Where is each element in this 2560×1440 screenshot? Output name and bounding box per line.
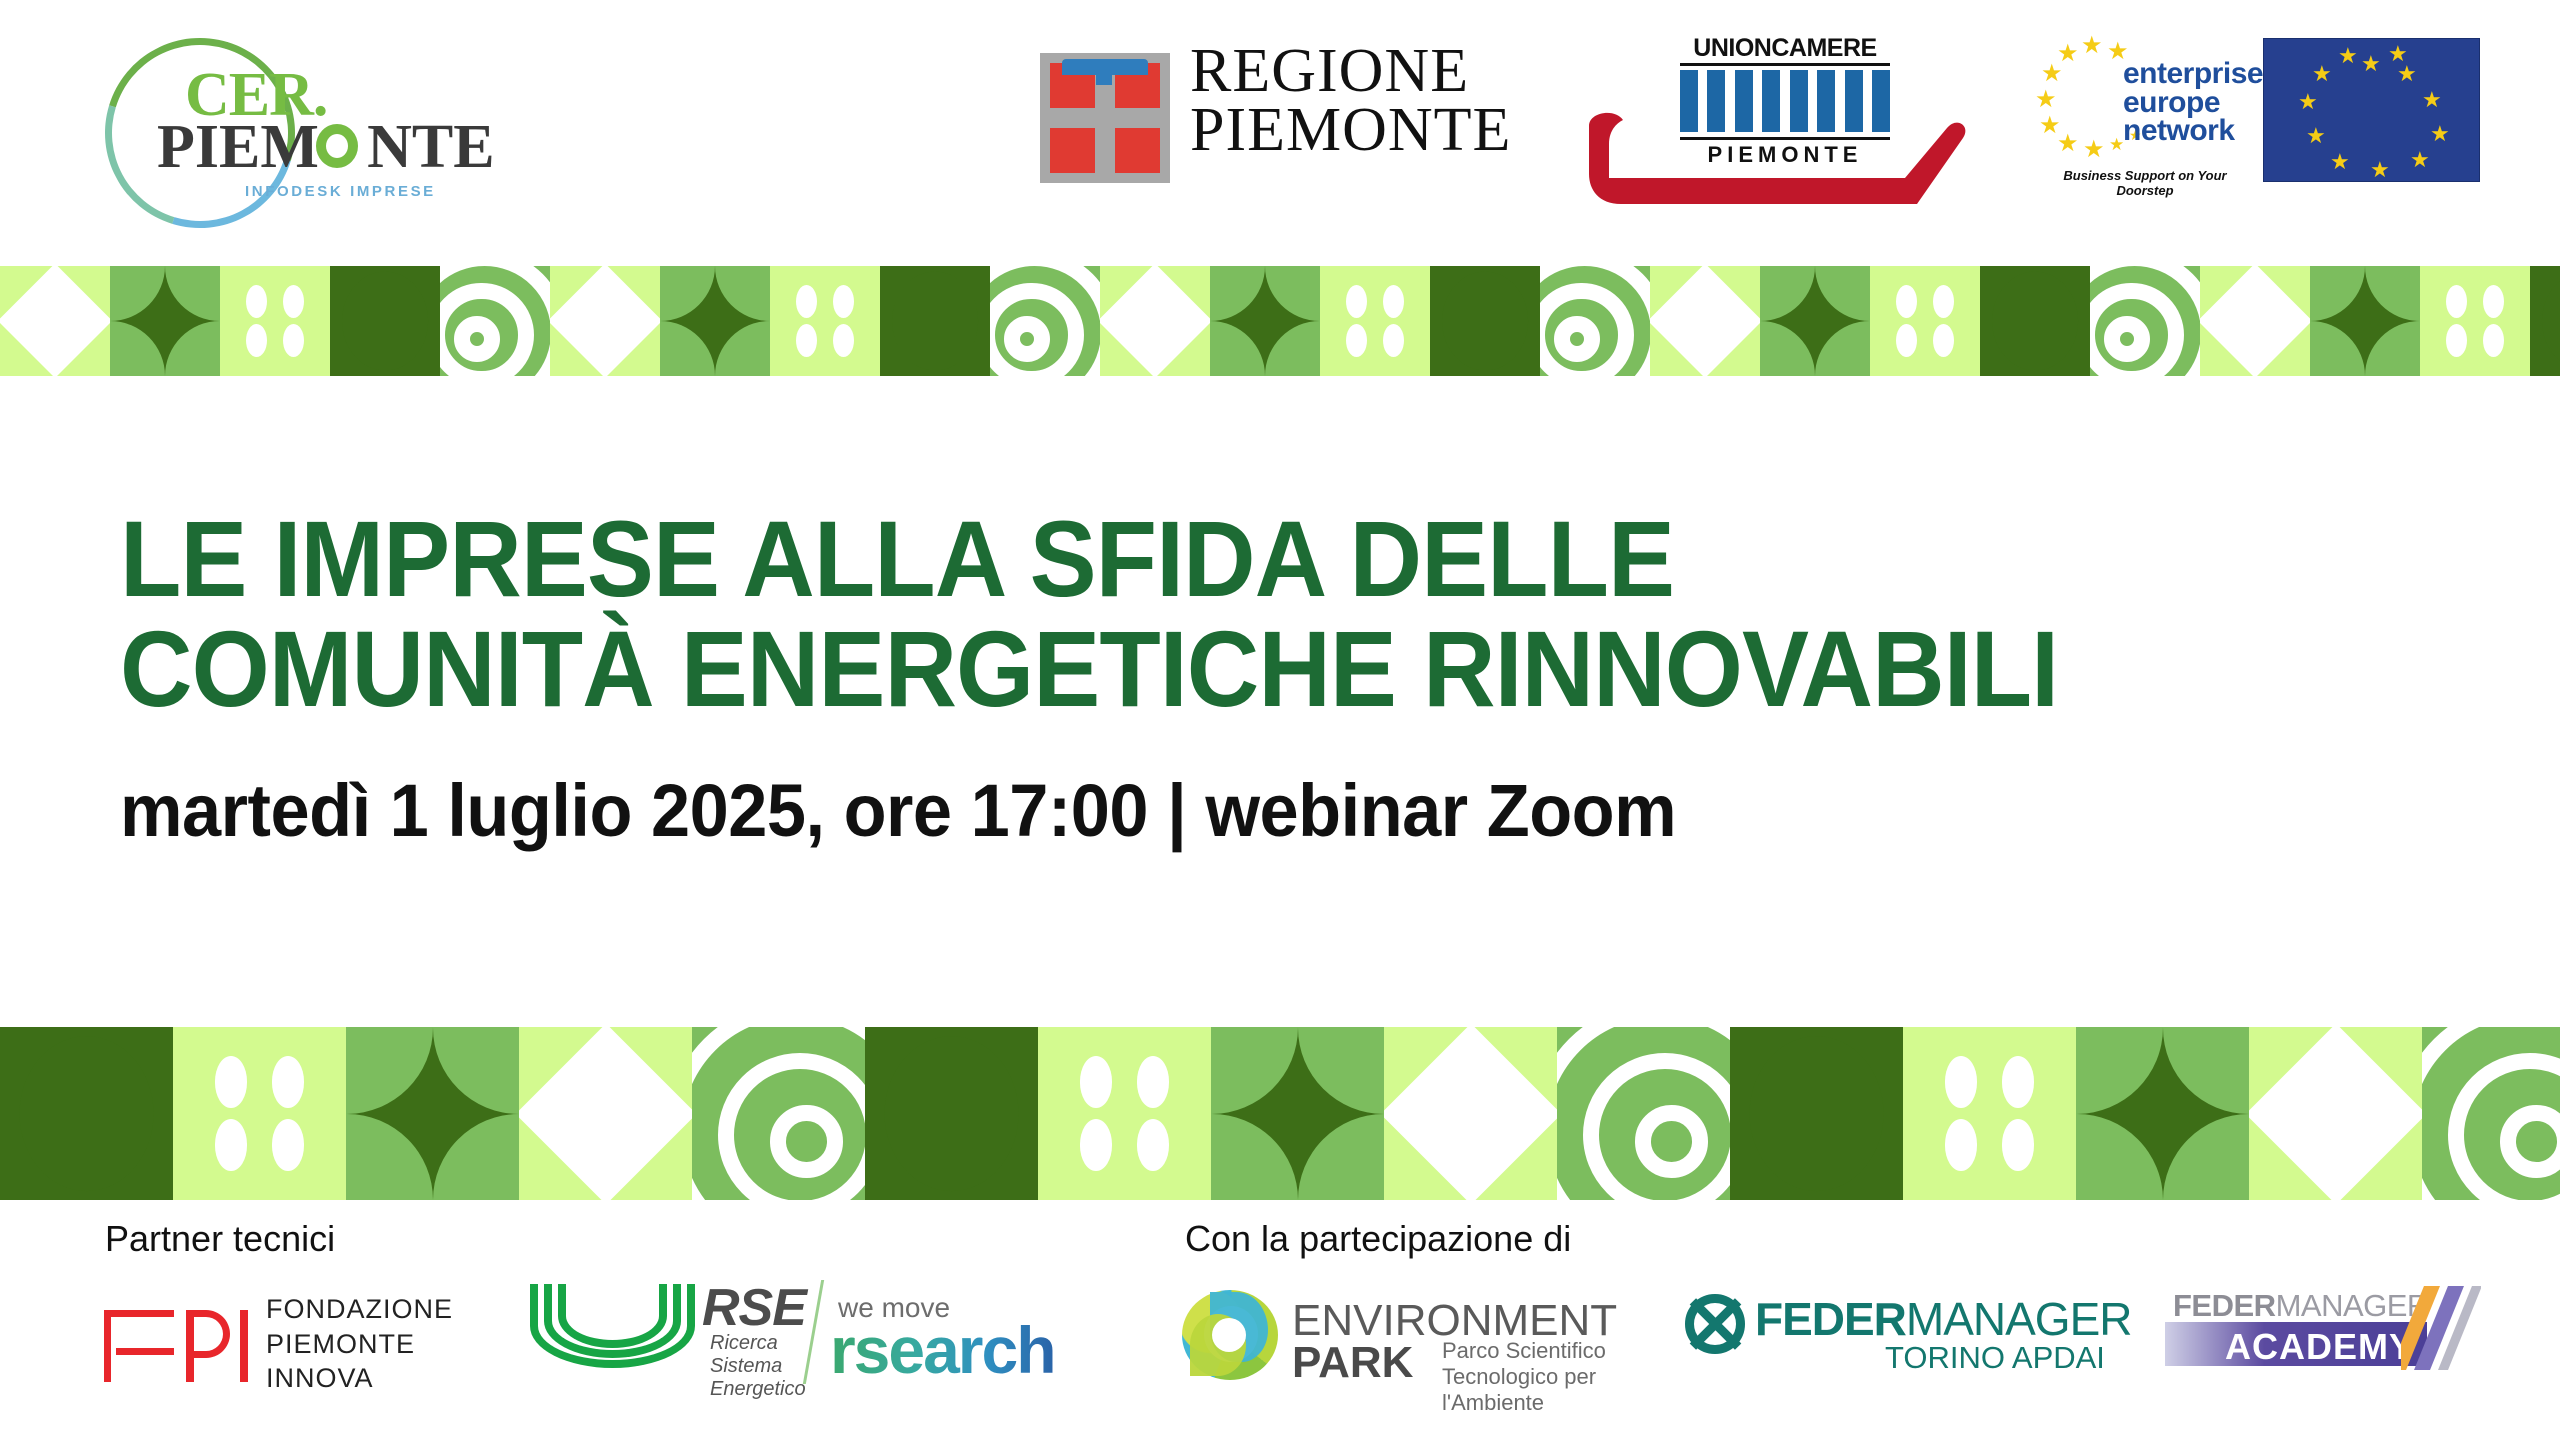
event-datetime-subtitle: martedì 1 luglio 2025, ore 17:00 | webin… xyxy=(120,768,1676,853)
environment-park-swirl-icon xyxy=(1180,1284,1280,1384)
environment-park-tagline: Parco Scientifico Tecnologico per l'Ambi… xyxy=(1442,1338,1610,1416)
european-union-flag-icon: ★ ★ ★ ★ ★ ★ ★ ★ ★ ★ ★ ★ xyxy=(2263,38,2480,182)
regione-piemonte-shield-icon xyxy=(1040,53,1170,183)
federmanager-bold: FEDER xyxy=(1755,1293,1906,1345)
decorative-pattern-band-bottom xyxy=(0,1027,2560,1200)
unioncamere-subtitle: PIEMONTE xyxy=(1680,142,1890,168)
cer-piemonte-logo: CER. PIEMONTE INFODESK IMPRESE xyxy=(95,28,495,238)
title-line-1: LE IMPRESE ALLA SFIDA DELLE xyxy=(120,504,2352,614)
environment-park-logo: ENVIRONMENT PARK Parco Scientifico Tecno… xyxy=(1180,1282,1610,1392)
fma-top-bold: FEDER xyxy=(2173,1288,2276,1323)
rse-divider xyxy=(803,1280,824,1384)
unioncamere-rule-bottom xyxy=(1680,137,1890,140)
rsearch-wordmark: rsearch xyxy=(830,1312,1055,1388)
unioncamere-rule-top xyxy=(1680,63,1890,66)
enterprise-europe-network-logo: ★ ★ ★ ★ ★ ★ ★ ★ ★ ★ enterprise europe ne… xyxy=(2035,28,2265,208)
unioncamere-bars-icon xyxy=(1680,70,1890,132)
fpi-line1: FONDAZIONE xyxy=(266,1292,453,1327)
federmanager-wordmark: FEDERMANAGER xyxy=(1755,1292,2132,1346)
fpi-line2: PIEMONTE xyxy=(266,1327,453,1362)
envp-tag1: Parco Scientifico xyxy=(1442,1338,1610,1364)
decorative-pattern-band-top xyxy=(0,266,2560,376)
fma-wordmark-top: FEDERMANAGER xyxy=(2173,1288,2429,1324)
een-line2: europe xyxy=(2123,89,2263,118)
fpi-line3: INNOVA xyxy=(266,1361,453,1396)
fma-academy-label: ACADEMY xyxy=(2225,1326,2414,1368)
rse-sub1: Ricerca xyxy=(710,1332,806,1355)
regione-line2: PIEMONTE xyxy=(1190,101,1511,160)
title-line-2: COMUNITÀ ENERGETICHE RINNOVABILI xyxy=(120,614,2352,724)
footer-partners: Partner tecnici Con la partecipazione di… xyxy=(0,1200,2560,1440)
cer-logo-suffix: NTE xyxy=(367,113,494,181)
rse-swoosh-icon xyxy=(530,1284,695,1368)
rse-sub3: Energetico xyxy=(710,1378,806,1401)
environment-park-line2: PARK xyxy=(1292,1338,1413,1388)
unioncamere-piemonte-logo: UNIONCAMERE PIEMONTE xyxy=(1575,30,1975,230)
unioncamere-title: UNIONCAMERE xyxy=(1680,34,1890,63)
partecipazione-label: Con la partecipazione di xyxy=(1185,1218,1571,1260)
federmanager-torino-apdai-logo: FEDERMANAGER TORINO APDAI xyxy=(1685,1290,2115,1390)
een-wordmark: enterprise europe network xyxy=(2123,60,2263,146)
regione-piemonte-logo: REGIONE PIEMONTE xyxy=(1040,38,1500,228)
cer-logo-subtitle: INFODESK IMPRESE xyxy=(245,183,436,200)
cer-o-ring-icon xyxy=(316,124,358,168)
rse-logo: RSE Ricerca Sistema Energetico we move r… xyxy=(530,1278,1090,1393)
een-line3: network xyxy=(2123,117,2263,146)
federmanager-cross-icon xyxy=(1685,1294,1745,1354)
partner-tecnici-label: Partner tecnici xyxy=(105,1218,335,1260)
een-tagline: Business Support on Your Doorstep xyxy=(2035,168,2255,198)
fpi-wordmark: FONDAZIONE PIEMONTE INNOVA xyxy=(266,1292,453,1396)
fpi-monogram-icon xyxy=(100,1290,250,1385)
regione-piemonte-wordmark: REGIONE PIEMONTE xyxy=(1190,42,1511,160)
federmanager-academy-logo: FEDERMANAGER ACADEMY xyxy=(2165,1288,2475,1388)
cer-logo-prefix: PIEM xyxy=(157,113,319,181)
fma-slash-icon xyxy=(2401,1286,2481,1370)
een-line1: enterprise xyxy=(2123,60,2263,89)
flyer-page: CER. PIEMONTE INFODESK IMPRESE REGIONE P… xyxy=(0,0,2560,1440)
fondazione-piemonte-innova-logo: FONDAZIONE PIEMONTE INNOVA xyxy=(100,1282,500,1392)
rse-abbr: RSE xyxy=(702,1278,806,1338)
regione-line1: REGIONE xyxy=(1190,42,1511,101)
rse-sub2: Sistema xyxy=(710,1355,806,1378)
main-content: LE IMPRESE ALLA SFIDA DELLE COMUNITÀ ENE… xyxy=(0,376,2560,1027)
event-title: LE IMPRESE ALLA SFIDA DELLE COMUNITÀ ENE… xyxy=(120,504,2520,724)
federmanager-subtitle: TORINO APDAI xyxy=(1885,1340,2105,1376)
federmanager-light: MANAGER xyxy=(1906,1293,2132,1345)
rse-subtitle: Ricerca Sistema Energetico xyxy=(710,1332,806,1401)
header-logo-row: CER. PIEMONTE INFODESK IMPRESE REGIONE P… xyxy=(0,0,2560,266)
envp-tag2: Tecnologico per l'Ambiente xyxy=(1442,1364,1610,1416)
